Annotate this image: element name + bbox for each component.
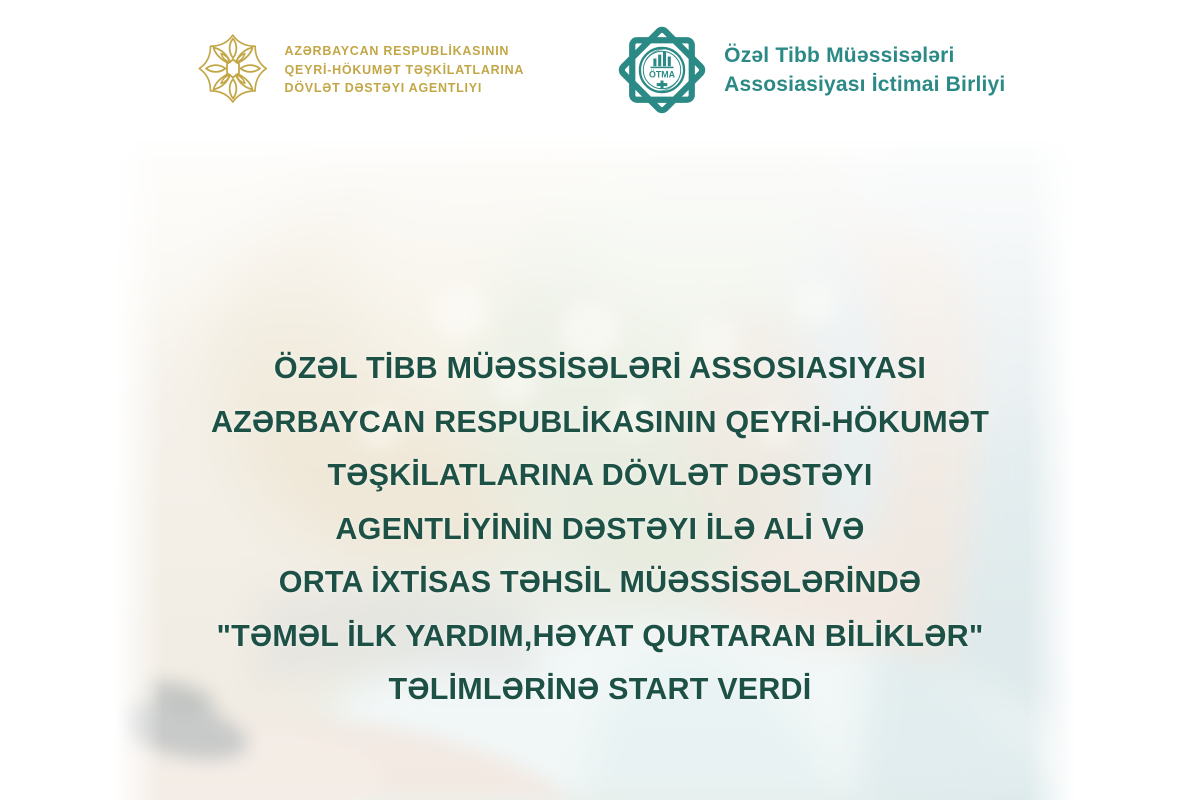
otma-eight-point-star-seal-icon: ÖTMA <box>614 22 710 118</box>
otma-emblem-abbreviation: ÖTMA <box>649 70 676 80</box>
association-logo-line-1: Özəl Tibb Müəssisələri <box>724 43 1005 68</box>
headline-line-6: "TƏMƏL İLK YARDIM,HƏYAT QURTARAN BİLİKLƏ… <box>60 610 1140 664</box>
agency-logo-block: AZƏRBAYCAN RESPUBLİKASININ QEYRİ-HÖKUMƏT… <box>195 28 525 112</box>
association-logo-text: Özəl Tibb Müəssisələri Assosiasiyası İct… <box>724 43 1005 96</box>
agency-logo-line-3: DÖVLƏT DƏSTƏYI AGENTLIYI <box>285 81 525 95</box>
announcement-headline: ÖZƏL TİBB MÜƏSSİSƏLƏRİ ASSOSIASIYASI AZƏ… <box>0 342 1200 717</box>
association-logo-block: ÖTMA Özəl Tibb Müəssisələri Assosiasiyas… <box>614 22 1005 118</box>
banner-root: AZƏRBAYCAN RESPUBLİKASININ QEYRİ-HÖKUMƏT… <box>0 0 1200 800</box>
association-logo-line-2: Assosiasiyası İctimai Birliyi <box>724 72 1005 97</box>
headline-line-3: TƏŞKİLATLARINA DÖVLƏT DƏSTƏYI <box>60 449 1140 503</box>
agency-logo-line-2: QEYRİ-HÖKUMƏT TƏŞKİLATLARINA <box>285 63 525 77</box>
agency-logo-line-1: AZƏRBAYCAN RESPUBLİKASININ <box>285 44 525 58</box>
headline-line-2: AZƏRBAYCAN RESPUBLİKASININ QEYRİ-HÖKUMƏT <box>60 396 1140 450</box>
headline-line-4: AGENTLİYİNİN DƏSTƏYI İLƏ ALİ VƏ <box>60 503 1140 557</box>
headline-line-5: ORTA İXTİSAS TƏHSİL MÜƏSSİSƏLƏRİNDƏ <box>60 556 1140 610</box>
agency-logo-text: AZƏRBAYCAN RESPUBLİKASININ QEYRİ-HÖKUMƏT… <box>285 44 525 95</box>
gold-rosette-medallion-icon <box>195 28 271 112</box>
headline-line-1: ÖZƏL TİBB MÜƏSSİSƏLƏRİ ASSOSIASIYASI <box>60 342 1140 396</box>
headline-line-7: TƏLİMLƏRİNƏ START VERDİ <box>60 663 1140 717</box>
header-logo-bar: AZƏRBAYCAN RESPUBLİKASININ QEYRİ-HÖKUMƏT… <box>0 0 1200 140</box>
